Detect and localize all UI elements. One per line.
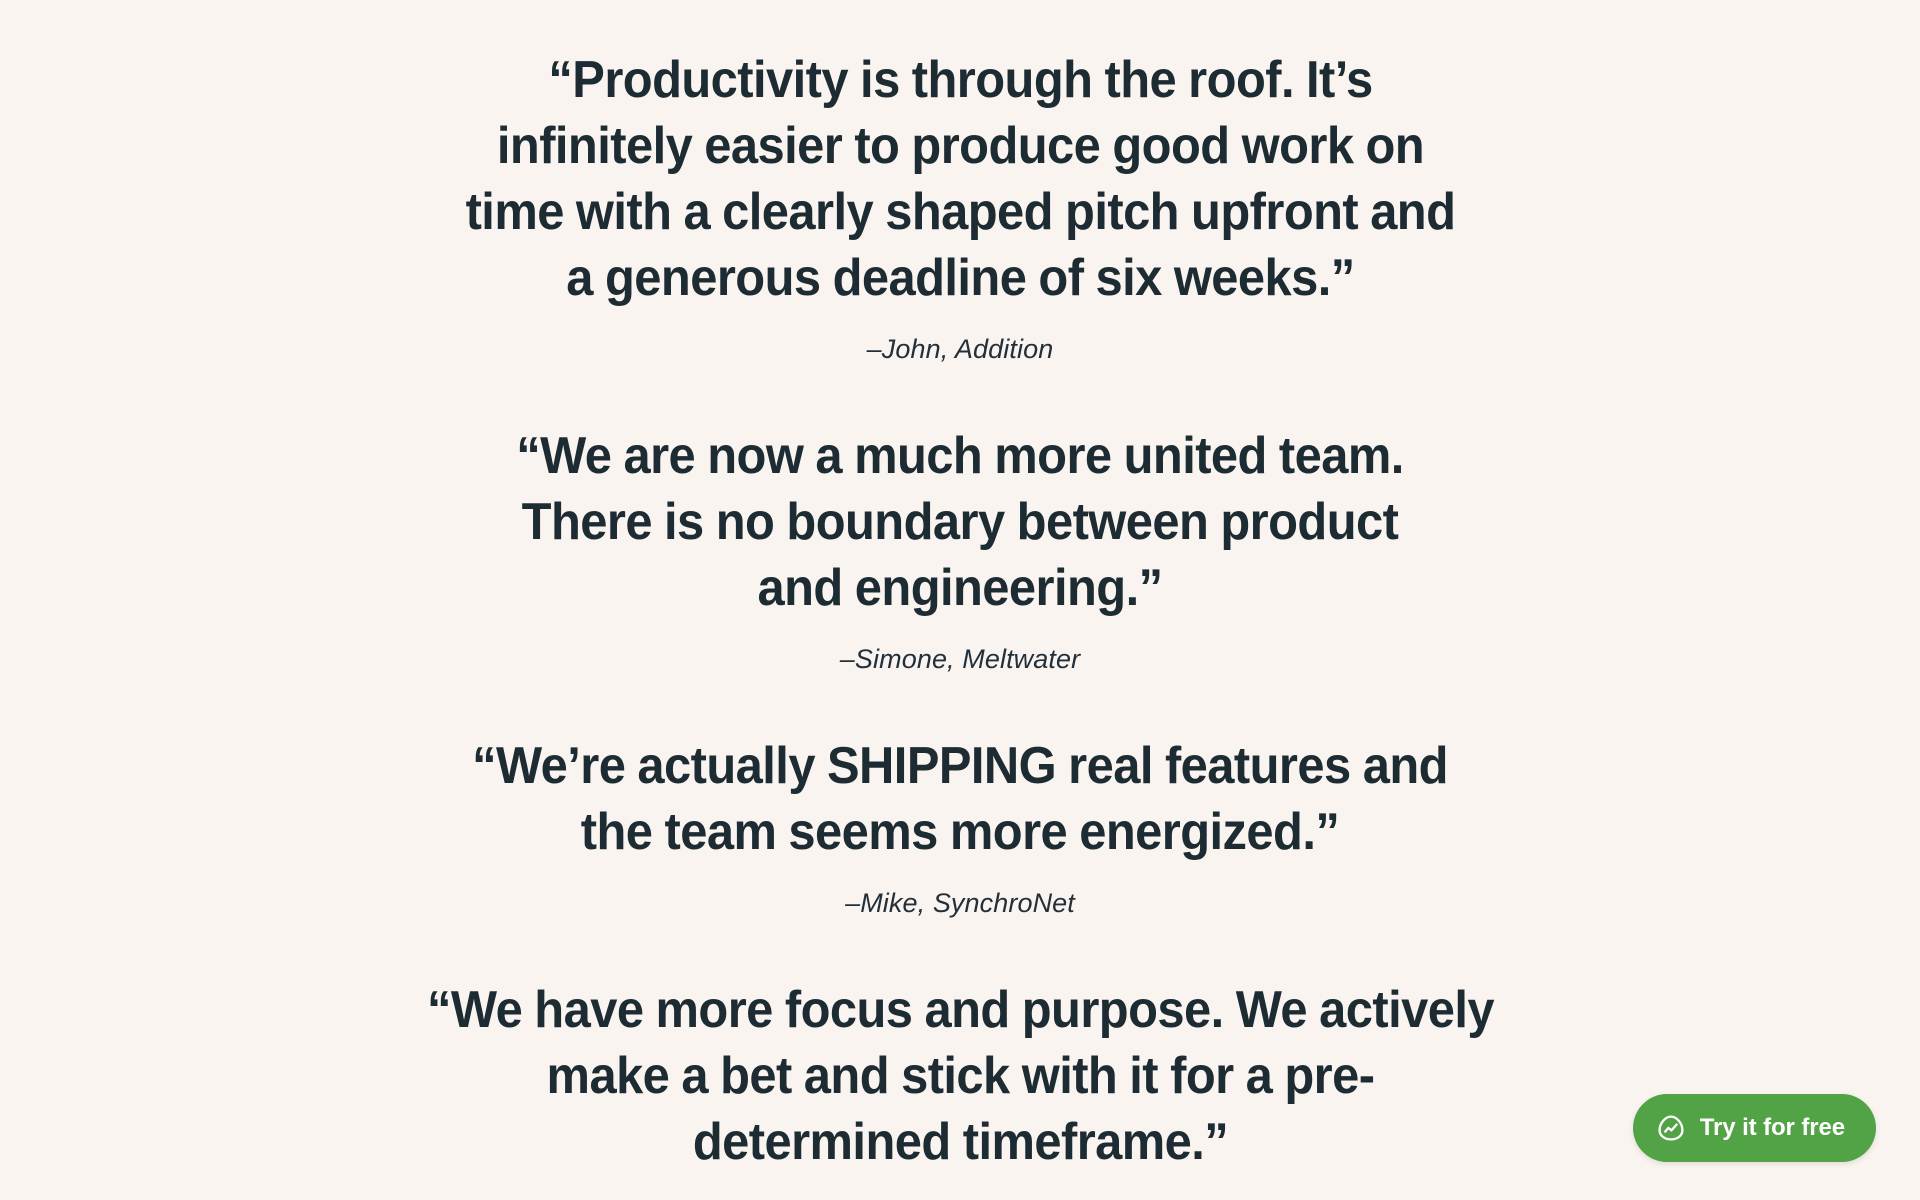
- testimonial-quote: “We have more focus and purpose. We acti…: [422, 977, 1498, 1175]
- testimonial-attribution: –Mike, SynchroNet: [260, 886, 1660, 920]
- try-it-for-free-label: Try it for free: [1700, 1116, 1845, 1140]
- testimonial-item: “We’re actually SHIPPING real features a…: [260, 733, 1660, 920]
- testimonial-attribution: –Filip, Lime Technologies: [260, 1196, 1660, 1200]
- testimonial-item: “Productivity is through the roof. It’s …: [260, 47, 1660, 366]
- testimonial-quote: “Productivity is through the roof. It’s …: [455, 47, 1466, 311]
- testimonial-quote: “We are now a much more united team. The…: [485, 423, 1434, 621]
- testimonial-item: “We are now a much more united team. The…: [260, 423, 1660, 676]
- basecamp-logo-icon: [1655, 1112, 1687, 1144]
- testimonial-attribution: –John, Addition: [260, 332, 1660, 366]
- try-it-for-free-button[interactable]: Try it for free: [1633, 1094, 1876, 1162]
- testimonial-attribution: –Simone, Meltwater: [260, 642, 1660, 676]
- testimonial-item: “We have more focus and purpose. We acti…: [260, 977, 1660, 1200]
- testimonial-quote: “We’re actually SHIPPING real features a…: [471, 733, 1449, 865]
- testimonials-page: “Productivity is through the roof. It’s …: [0, 0, 1920, 1200]
- testimonials-list: “Productivity is through the roof. It’s …: [0, 0, 1920, 1200]
